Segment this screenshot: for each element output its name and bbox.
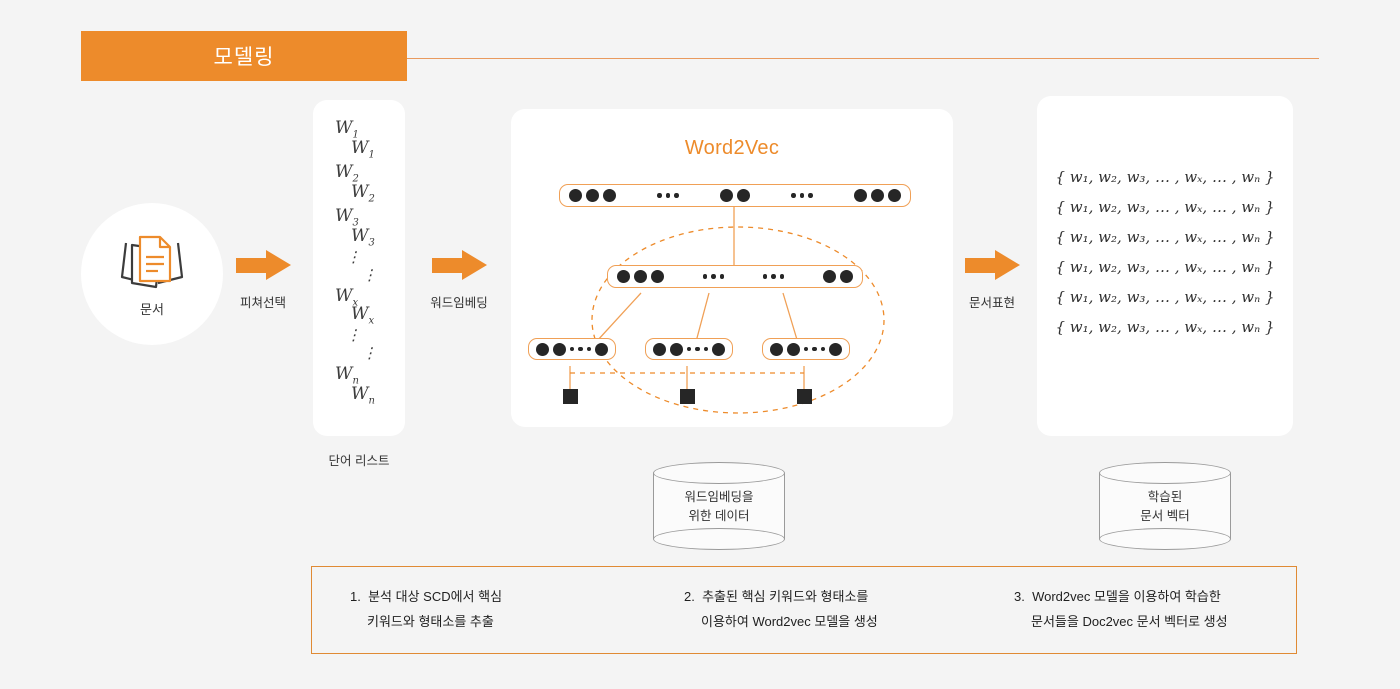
layer-ellipsis xyxy=(657,193,679,198)
document-vector-row: { w₁, w₂, w₃, … , wₓ, … , wₙ } xyxy=(1055,258,1274,276)
node-dot xyxy=(569,189,582,202)
node-group xyxy=(854,189,901,202)
node-dot xyxy=(720,189,733,202)
node-group xyxy=(536,343,566,356)
caption-item-2-line2: 이용하여 Word2vec 모델을 생성 xyxy=(684,609,966,634)
word-item-3-echo: W3 xyxy=(351,226,375,248)
node-dot xyxy=(553,343,566,356)
caption-item-1-line1: 1. 분석 대상 SCD에서 핵심 xyxy=(350,584,632,609)
node-dot xyxy=(670,343,683,356)
cylinder-label-line1: 워드임베딩을 xyxy=(684,490,753,504)
document-vector-row: { w₁, w₂, w₃, … , wₓ, … , wₙ } xyxy=(1055,288,1274,306)
node-dot xyxy=(617,270,630,283)
word-list-caption: 단어 리스트 xyxy=(313,450,405,469)
database-cylinder-doc-vector: 학습된 문서 벡터 xyxy=(1099,462,1231,550)
layer-ellipsis xyxy=(570,347,592,352)
node-dot xyxy=(536,343,549,356)
cylinder-top-ellipse xyxy=(653,462,785,484)
page-title: 모델링 xyxy=(214,41,275,71)
node-dot xyxy=(737,189,750,202)
document-vector-row: { w₁, w₂, w₃, … , wₓ, … , wₙ } xyxy=(1055,228,1274,246)
caption-box: 1. 분석 대상 SCD에서 핵심 키워드와 형태소를 추출 2. 추출된 핵심… xyxy=(311,566,1297,654)
arrow-word-embedding: 워드임베딩 xyxy=(404,250,514,311)
node-group xyxy=(720,189,750,202)
input-layer-node xyxy=(528,338,616,360)
header-banner: 모델링 xyxy=(81,31,407,81)
layer-ellipsis xyxy=(763,274,785,279)
cylinder-label-line2: 위한 데이터 xyxy=(689,509,750,523)
terminal-square xyxy=(563,389,578,404)
terminal-square xyxy=(680,389,695,404)
caption-item-2: 2. 추출된 핵심 키워드와 형태소를 이용하여 Word2vec 모델을 생성 xyxy=(632,567,966,653)
word-ellipsis-2-echo: ⋮ xyxy=(362,346,377,361)
cylinder-bottom-ellipse xyxy=(1099,528,1231,550)
layer-ellipsis xyxy=(791,193,813,198)
document-vectors-panel: { w₁, w₂, w₃, … , wₓ, … , wₙ } { w₁, w₂,… xyxy=(1037,96,1293,436)
word-item-2-echo: W2 xyxy=(351,182,375,204)
node-dot xyxy=(634,270,647,283)
node-group xyxy=(569,189,616,202)
document-vector-row: { w₁, w₂, w₃, … , wₓ, … , wₙ } xyxy=(1055,318,1274,336)
cylinder-label: 워드임베딩을 위한 데이터 xyxy=(653,488,785,526)
cylinder-top-ellipse xyxy=(1099,462,1231,484)
word-item-1-echo: W1 xyxy=(351,138,375,160)
output-layer xyxy=(559,184,911,207)
caption-item-1-line2: 키워드와 형태소를 추출 xyxy=(350,609,632,634)
node-dot xyxy=(823,270,836,283)
document-vector-list: { w₁, w₂, w₃, … , wₓ, … , wₙ } { w₁, w₂,… xyxy=(1037,168,1293,336)
input-layer-node xyxy=(645,338,733,360)
input-layer-node xyxy=(762,338,850,360)
cylinder-label-line1: 학습된 xyxy=(1148,490,1183,504)
caption-item-3-line2: 문서들을 Doc2vec 문서 벡터로 생성 xyxy=(1014,609,1296,634)
word2vec-title: Word2Vec xyxy=(511,137,953,160)
caption-item-3-line1: 3. Word2vec 모델을 이용하여 학습한 xyxy=(1014,584,1296,609)
document-stack-icon xyxy=(116,231,188,293)
database-cylinder-word-embedding: 워드임베딩을 위한 데이터 xyxy=(653,462,785,550)
word-ellipsis-1-echo: ⋮ xyxy=(362,268,377,283)
layer-ellipsis xyxy=(703,274,725,279)
terminal-square xyxy=(797,389,812,404)
arrow-label-document-representation: 문서표현 xyxy=(969,292,1015,311)
node-group xyxy=(770,343,800,356)
node-dot xyxy=(651,270,664,283)
header-rule xyxy=(407,58,1319,59)
word2vec-panel: Word2Vec xyxy=(511,109,953,427)
layer-ellipsis xyxy=(687,347,709,352)
word-item-x-echo: Wx xyxy=(351,304,374,326)
node-group xyxy=(653,343,683,356)
node-dot xyxy=(871,189,884,202)
caption-item-2-line1: 2. 추출된 핵심 키워드와 형태소를 xyxy=(684,584,966,609)
node-dot xyxy=(595,343,608,356)
document-vector-row: { w₁, w₂, w₃, … , wₓ, … , wₙ } xyxy=(1055,198,1274,216)
word-item-n-echo: Wn xyxy=(351,384,375,406)
document-vector-row: { w₁, w₂, w₃, … , wₓ, … , wₙ } xyxy=(1055,168,1274,186)
arrow-right-icon xyxy=(432,250,486,280)
arrow-right-icon xyxy=(965,250,1019,280)
node-dot xyxy=(787,343,800,356)
arrow-document-representation: 문서표현 xyxy=(937,250,1047,311)
word-ellipsis-1: ⋮ xyxy=(346,250,361,265)
word-list-panel: W1 W1 W2 W2 W3 W3 ⋮ ⋮ Wx Wx ⋮ ⋮ Wn Wn xyxy=(313,100,405,436)
arrow-feature-selection: 피쳐선택 xyxy=(208,250,318,311)
word-list-items: W1 W1 W2 W2 W3 W3 ⋮ ⋮ Wx Wx ⋮ ⋮ Wn Wn xyxy=(313,100,405,436)
node-group xyxy=(617,270,664,283)
layer-ellipsis xyxy=(804,347,826,352)
source-document-label: 문서 xyxy=(140,299,164,318)
node-dot xyxy=(586,189,599,202)
arrow-label-feature-selection: 피쳐선택 xyxy=(240,292,286,311)
node-dot xyxy=(770,343,783,356)
arrow-label-word-embedding: 워드임베딩 xyxy=(430,292,488,311)
caption-item-1: 1. 분석 대상 SCD에서 핵심 키워드와 형태소를 추출 xyxy=(312,567,632,653)
word-ellipsis-2: ⋮ xyxy=(346,328,361,343)
node-dot xyxy=(712,343,725,356)
arrow-right-icon xyxy=(236,250,290,280)
cylinder-label-line2: 문서 벡터 xyxy=(1140,509,1189,523)
node-dot xyxy=(888,189,901,202)
node-dot xyxy=(653,343,666,356)
node-dot xyxy=(840,270,853,283)
cylinder-label: 학습된 문서 벡터 xyxy=(1099,488,1231,526)
source-document-node: 문서 xyxy=(81,203,223,345)
caption-item-3: 3. Word2vec 모델을 이용하여 학습한 문서들을 Doc2vec 문서… xyxy=(966,567,1296,653)
node-dot xyxy=(603,189,616,202)
node-dot xyxy=(829,343,842,356)
node-group xyxy=(823,270,853,283)
cylinder-bottom-ellipse xyxy=(653,528,785,550)
hidden-layer xyxy=(607,265,863,288)
node-dot xyxy=(854,189,867,202)
diagram-canvas: 모델링 문서 피쳐선택 W1 W1 W2 xyxy=(0,0,1400,689)
